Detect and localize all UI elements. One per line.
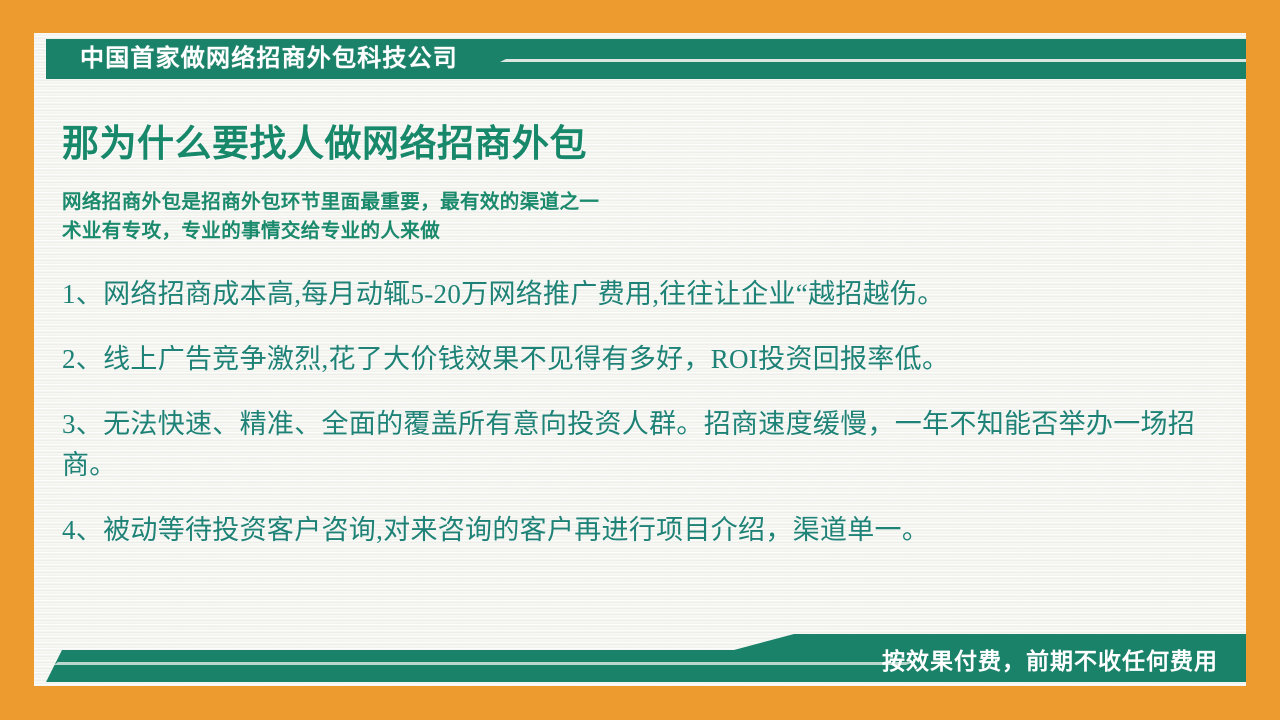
top-orange-strip <box>34 0 1246 33</box>
footer-hairline <box>54 662 914 665</box>
header-hairline <box>500 59 1246 62</box>
list-item: 2、线上广告竞争激烈,花了大价钱效果不见得有多好，ROI投资回报率低。 <box>62 339 1222 380</box>
page-title: 那为什么要找人做网络招商外包 <box>62 120 1222 168</box>
slide-content: 那为什么要找人做网络招商外包 网络招商外包是招商外包环节里面最重要，最有效的渠道… <box>62 120 1222 551</box>
slide-root: 中国首家做网络招商外包科技公司 那为什么要找人做网络招商外包 网络招商外包是招商… <box>0 0 1280 720</box>
slide-canvas: 中国首家做网络招商外包科技公司 那为什么要找人做网络招商外包 网络招商外包是招商… <box>34 0 1246 720</box>
list-item: 3、无法快速、精准、全面的覆盖所有意向投资人群。招商速度缓慢，一年不知能否举办一… <box>62 404 1222 486</box>
subtitle-line-1: 网络招商外包是招商外包环节里面最重要，最有效的渠道之一 <box>62 188 1222 217</box>
header-title: 中国首家做网络招商外包科技公司 <box>80 44 458 74</box>
subtitle-block: 网络招商外包是招商外包环节里面最重要，最有效的渠道之一 术业有专攻，专业的事情交… <box>62 188 1222 246</box>
subtitle-line-2: 术业有专攻，专业的事情交给专业的人来做 <box>62 217 1222 246</box>
bullet-list: 1、网络招商成本高,每月动辄5-20万网络推广费用,往往让企业“越招越伤。 2、… <box>62 274 1222 551</box>
bottom-orange-strip <box>34 686 1246 720</box>
footer-tagline: 按效果付费，前期不收任何费用 <box>882 646 1218 676</box>
list-item: 4、被动等待投资客户咨询,对来咨询的客户再进行项目介绍，渠道单一。 <box>62 510 1222 551</box>
list-item: 1、网络招商成本高,每月动辄5-20万网络推广费用,往往让企业“越招越伤。 <box>62 274 1222 315</box>
